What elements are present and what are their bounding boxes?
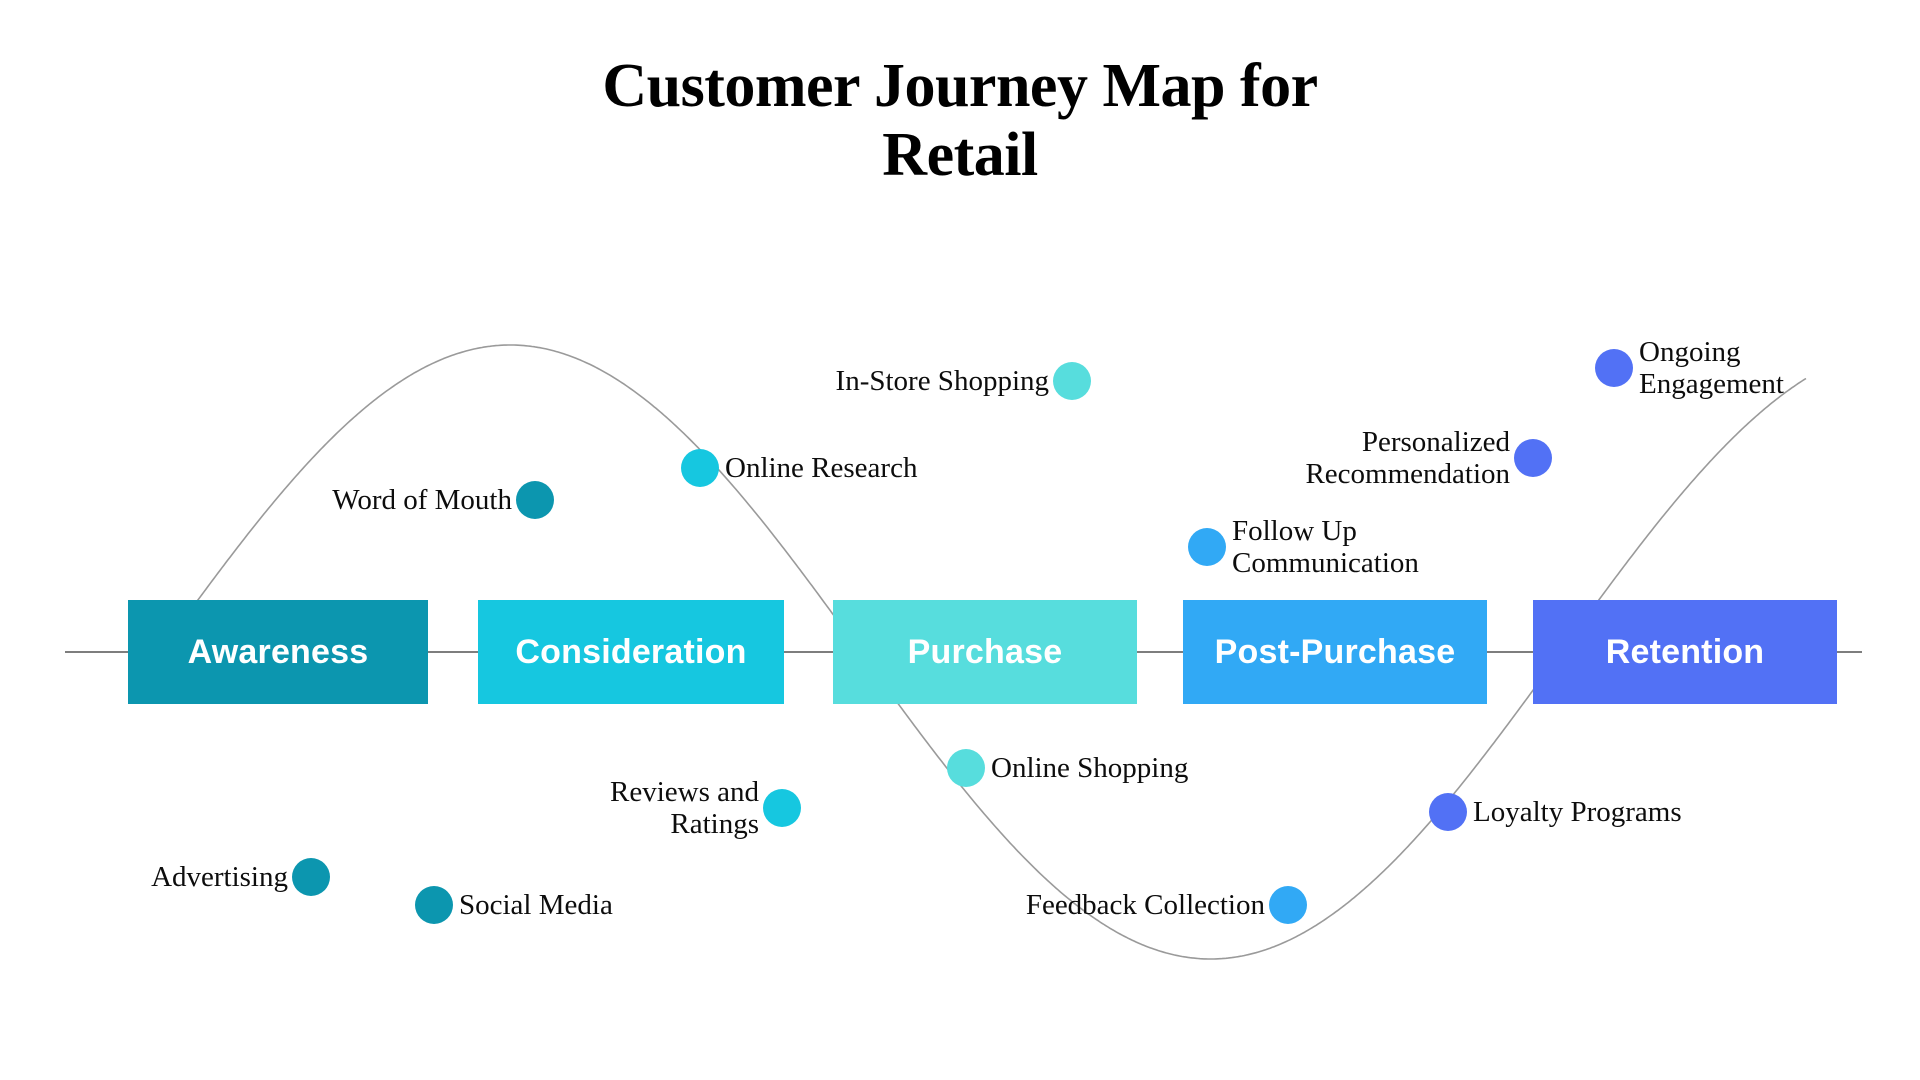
journey-map-canvas: Customer Journey Map for Retail Awarenes… xyxy=(0,0,1920,1080)
stage-box-consideration[interactable]: Consideration xyxy=(478,600,784,704)
page-title-line-1: Customer Journey Map for xyxy=(410,52,1510,121)
stage-label-retention: Retention xyxy=(1606,633,1765,672)
stage-label-consideration: Consideration xyxy=(515,633,746,672)
touchpoint-label-line: Advertising xyxy=(151,861,288,893)
touchpoint-online-shopping[interactable]: Online Shopping xyxy=(947,749,1585,787)
touchpoint-dot-ongoing-engagement[interactable] xyxy=(1595,349,1633,387)
touchpoint-label-reviews-and-ratings: Reviews andRatings xyxy=(610,776,759,841)
touchpoint-label-line: Feedback Collection xyxy=(1026,889,1265,921)
touchpoint-label-line: Engagement xyxy=(1639,368,1784,400)
stage-box-retention[interactable]: Retention xyxy=(1533,600,1837,704)
touchpoint-label-line: Communication xyxy=(1232,547,1419,579)
touchpoint-label-follow-up-communication: Follow UpCommunication xyxy=(1232,515,1419,580)
touchpoint-label-line: Online Shopping xyxy=(991,752,1188,784)
touchpoint-label-feedback-collection: Feedback Collection xyxy=(1026,889,1265,921)
touchpoint-label-line: Follow Up xyxy=(1232,515,1419,547)
touchpoint-dot-feedback-collection[interactable] xyxy=(1269,886,1307,924)
touchpoint-loyalty-programs[interactable]: Loyalty Programs xyxy=(1429,793,1920,831)
touchpoint-label-line: Loyalty Programs xyxy=(1473,796,1682,828)
touchpoint-dot-follow-up-communication[interactable] xyxy=(1188,528,1226,566)
touchpoint-label-line: Online Research xyxy=(725,452,917,484)
touchpoint-feedback-collection[interactable]: Feedback Collection xyxy=(669,886,1307,924)
touchpoint-label-line: Recommendation xyxy=(1305,458,1510,490)
touchpoint-label-online-research: Online Research xyxy=(725,452,917,484)
stage-label-purchase: Purchase xyxy=(908,633,1063,672)
touchpoint-label-ongoing-engagement: OngoingEngagement xyxy=(1639,336,1784,401)
touchpoint-dot-online-research[interactable] xyxy=(681,449,719,487)
touchpoint-dot-reviews-and-ratings[interactable] xyxy=(763,789,801,827)
page-title: Customer Journey Map for Retail xyxy=(410,52,1510,191)
touchpoint-dot-personalized-recommendation[interactable] xyxy=(1514,439,1552,477)
stage-label-awareness: Awareness xyxy=(188,633,369,672)
stage-box-post-purchase[interactable]: Post-Purchase xyxy=(1183,600,1487,704)
touchpoint-label-line: In-Store Shopping xyxy=(836,365,1049,397)
touchpoint-ongoing-engagement[interactable]: OngoingEngagement xyxy=(1595,349,1920,387)
touchpoint-label-line: Personalized xyxy=(1305,426,1510,458)
touchpoint-label-line: Ratings xyxy=(610,808,759,840)
touchpoint-reviews-and-ratings[interactable]: Reviews andRatings xyxy=(163,789,801,827)
touchpoint-in-store-shopping[interactable]: In-Store Shopping xyxy=(453,362,1091,400)
touchpoint-dot-social-media[interactable] xyxy=(415,886,453,924)
touchpoint-dot-loyalty-programs[interactable] xyxy=(1429,793,1467,831)
touchpoint-dot-online-shopping[interactable] xyxy=(947,749,985,787)
touchpoint-dot-word-of-mouth[interactable] xyxy=(516,481,554,519)
touchpoint-label-line: Ongoing xyxy=(1639,336,1784,368)
touchpoint-label-line: Word of Mouth xyxy=(332,484,512,516)
touchpoint-label-word-of-mouth: Word of Mouth xyxy=(332,484,512,516)
touchpoint-advertising[interactable]: Advertising xyxy=(0,858,330,896)
touchpoint-label-advertising: Advertising xyxy=(151,861,288,893)
touchpoint-label-in-store-shopping: In-Store Shopping xyxy=(836,365,1049,397)
stage-box-awareness[interactable]: Awareness xyxy=(128,600,428,704)
touchpoint-dot-advertising[interactable] xyxy=(292,858,330,896)
touchpoint-personalized-recommendation[interactable]: PersonalizedRecommendation xyxy=(914,439,1552,477)
touchpoint-label-line: Reviews and xyxy=(610,776,759,808)
touchpoint-label-loyalty-programs: Loyalty Programs xyxy=(1473,796,1682,828)
touchpoint-label-personalized-recommendation: PersonalizedRecommendation xyxy=(1305,426,1510,491)
touchpoint-dot-in-store-shopping[interactable] xyxy=(1053,362,1091,400)
touchpoint-word-of-mouth[interactable]: Word of Mouth xyxy=(0,481,554,519)
touchpoint-label-online-shopping: Online Shopping xyxy=(991,752,1188,784)
page-title-line-2: Retail xyxy=(410,121,1510,190)
touchpoint-follow-up-communication[interactable]: Follow UpCommunication xyxy=(1188,528,1826,566)
touchpoint-label-social-media: Social Media xyxy=(459,889,613,921)
stage-box-purchase[interactable]: Purchase xyxy=(833,600,1137,704)
stage-label-post-purchase: Post-Purchase xyxy=(1215,633,1456,672)
touchpoint-label-line: Social Media xyxy=(459,889,613,921)
